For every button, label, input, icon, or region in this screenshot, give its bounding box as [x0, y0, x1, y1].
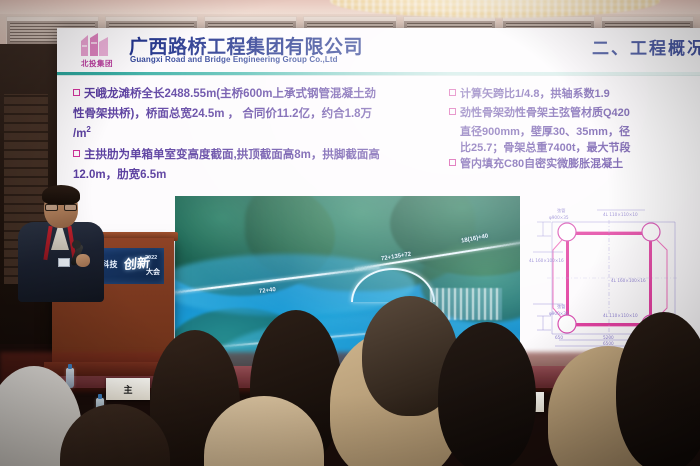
bullet-column-left: 天峨龙滩桥全长2488.55m(主桥600m上承式钢管混凝土劲 性骨架拱桥)，桥… [73, 86, 433, 183]
slide-header: 北投集团 广西路桥工程集团有限公司 Guangxi Road and Bridg… [57, 28, 700, 74]
diagram-label: φ900×35 [549, 215, 569, 220]
diagram-label: 弦管 [557, 303, 565, 310]
diagram-label: 4L 110×110×10 [603, 212, 638, 217]
bullet-continuation: 比25.7；骨架总重7400t，最大节段 [449, 140, 700, 156]
beitou-logo-icon [77, 32, 111, 58]
speaker-badge [58, 258, 70, 267]
bullet-square-icon [449, 108, 456, 115]
speaker-hand [76, 254, 90, 267]
diagram-label: 4L 110×110×10 [603, 313, 638, 318]
bullet-continuation: 直径900mm，壁厚30、35mm，径 [449, 124, 700, 140]
bullet-square-icon [449, 89, 456, 96]
diagram-label: 弦管 [557, 207, 565, 214]
bullet-continuation: 性骨架拱桥)，桥面总宽24.5m ， 合同价11.2亿，约合1.8万 [73, 106, 433, 123]
screenshot-stage: 北投集团 广西路桥工程集团有限公司 Guangxi Road and Bridg… [0, 0, 700, 466]
company-name-en: Guangxi Road and Bridge Engineering Grou… [130, 55, 338, 64]
diagram-label: φ900×35 [549, 311, 569, 316]
header-divider-thin [57, 75, 700, 76]
chapter-title: 二、工程概况 [592, 34, 700, 59]
bullet-column-right: 计算矢跨比1/4.8，拱轴系数1.9 劲性骨架劲性骨架主弦管材质Q420 直径9… [449, 86, 700, 175]
bullet-continuation-unit: /m2 [73, 122, 433, 142]
table-name-card: 主 [106, 378, 150, 400]
audience-head [438, 322, 536, 466]
glasses-icon [45, 204, 77, 211]
microphone-head-icon [72, 240, 81, 249]
bullet-item: 劲性骨架劲性骨架主弦管材质Q420 [449, 105, 700, 121]
speaker-hair [42, 185, 80, 205]
bullet-text: 劲性骨架劲性骨架主弦管材质Q420 [460, 105, 630, 121]
diagram-label: 4L 160×100×16 [611, 278, 646, 283]
podium-sign-meeting-text: 大会 [146, 267, 160, 277]
bullet-square-icon [449, 159, 456, 166]
logo-text: 北投集团 [71, 58, 123, 69]
bullet-continuation: 12.0m，肋宽6.5m [73, 167, 433, 184]
bullet-item: 管内填充C80自密实微膨胀混凝土 [449, 156, 700, 172]
bullet-square-icon [73, 89, 80, 96]
diagram-label: 5200 [603, 335, 614, 340]
diagram-label: 650 [555, 335, 563, 340]
bullet-text: 管内填充C80自密实微膨胀混凝土 [460, 156, 623, 172]
bullet-text: 计算矢跨比1/4.8，拱轴系数1.9 [460, 86, 610, 102]
bullet-square-icon [73, 150, 80, 157]
bullet-item: 主拱肋为单箱单室变高度截面,拱顶截面高8m，拱脚截面高 [73, 147, 433, 164]
podium-sign-year: 2022 [145, 255, 157, 261]
diagram-label: 4L 160×100×16 [529, 258, 564, 263]
bullet-text: 主拱肋为单箱单室变高度截面,拱顶截面高8m，拱脚截面高 [84, 147, 380, 164]
bullet-text: 天峨龙滩桥全长2488.55m(主桥600m上承式钢管混凝土劲 [84, 86, 376, 103]
bullet-item: 天峨龙滩桥全长2488.55m(主桥600m上承式钢管混凝土劲 [73, 86, 433, 103]
speaker-presenter [18, 188, 104, 298]
bullet-item: 计算矢跨比1/4.8，拱轴系数1.9 [449, 86, 700, 102]
